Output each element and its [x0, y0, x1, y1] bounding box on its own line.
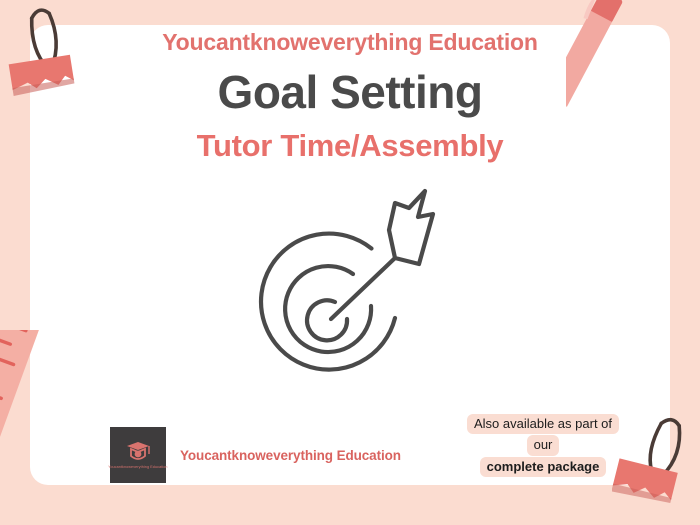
- page-title: Goal Setting: [30, 66, 670, 119]
- badge-line-2: our: [527, 435, 560, 455]
- logo-mark: Youcantknoweverything Education: [110, 427, 166, 483]
- badge-line-1: Also available as part of: [467, 414, 619, 434]
- logo-micro-text: Youcantknoweverything Education: [108, 465, 167, 470]
- target-with-arrow-icon: [243, 186, 473, 391]
- page-subtitle: Tutor Time/Assembly: [30, 127, 670, 164]
- footer-logo: Youcantknoweverything Education Youcantk…: [110, 427, 401, 483]
- poster-canvas: Youcantknoweverything Education Goal Set…: [0, 0, 700, 525]
- brand-top-label: Youcantknoweverything Education: [30, 28, 670, 57]
- heading-block: Youcantknoweverything Education Goal Set…: [30, 28, 670, 164]
- availability-badge: Also available as part of our complete p…: [452, 414, 634, 477]
- badge-line-3: complete package: [480, 457, 607, 477]
- graduation-cap-icon: [125, 441, 151, 463]
- logo-label: Youcantknoweverything Education: [180, 448, 401, 463]
